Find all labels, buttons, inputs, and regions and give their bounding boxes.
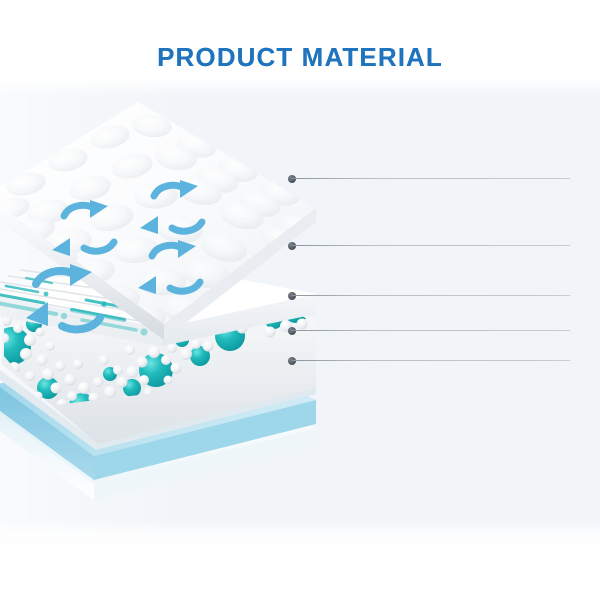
callout-leader-line: [292, 360, 570, 361]
callout-leader-line: [292, 330, 570, 331]
callout-dot-icon: [288, 175, 296, 183]
callout-dot-icon: [288, 357, 296, 365]
callout-dot-icon: [288, 242, 296, 250]
callout-leader-line: [292, 178, 570, 179]
product-material-infographic: PRODUCT MATERIAL: [0, 0, 600, 600]
callout-leader-line: [292, 245, 570, 246]
callout-list: NON WOVEN SURFACE INSTANTANEOUS ABSORBIN…: [0, 0, 600, 600]
callout-leader-line: [292, 295, 570, 296]
callout-dot-icon: [288, 292, 296, 300]
callout-dot-icon: [288, 327, 296, 335]
